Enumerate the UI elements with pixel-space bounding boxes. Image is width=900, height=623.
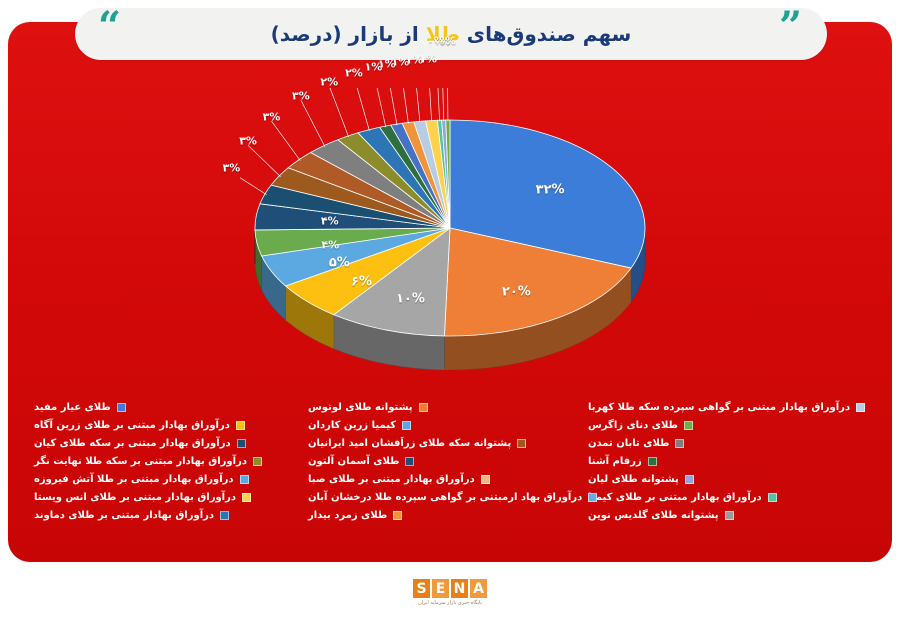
- legend-swatch-icon: [237, 439, 246, 448]
- legend-swatch-icon: [220, 511, 229, 520]
- legend-swatch-icon: [240, 475, 249, 484]
- legend-item-label: درآوراق بهادار مبتنی بر طلای صبا: [308, 472, 475, 487]
- legend-item-label: درآوراق بهادار مبتنی بر طلای انس ویستا: [34, 490, 236, 505]
- legend-column-middle: پشتوانه طلای لوتوسکیمیا زرین کاردانپشتوا…: [302, 400, 582, 545]
- pie-slice-value-label: ۲۰%: [502, 284, 531, 299]
- pie-label-leader-line: [436, 88, 440, 121]
- pie-slice-value-label: ۱۰%: [396, 292, 425, 307]
- legend-item-label: طلای زمرد بیدار: [308, 508, 387, 523]
- pie-slice-value-label: ۴%: [321, 215, 339, 228]
- legend-item-label: درآوراق بهادار مبتنی بر سکه طلای کیان: [34, 436, 231, 451]
- legend-column-left: طلای عیار مفیددرآوراق بهادار مبتنی بر طل…: [28, 400, 302, 545]
- legend-swatch-icon: [242, 493, 251, 502]
- sena-logo-subtitle: پایگاه خبری بازار سرمایه ایران: [418, 600, 482, 606]
- legend-item[interactable]: طلای زمرد بیدار: [308, 508, 576, 523]
- legend-item-label: کیمیا زرین کاردان: [308, 418, 396, 433]
- legend-swatch-icon: [588, 493, 597, 502]
- pie-label-leader-line: [428, 88, 432, 122]
- legend-item[interactable]: طلای عیار مفید: [34, 400, 296, 415]
- legend-item[interactable]: پشتوانه سکه طلای زراَفشان امید ایرانیان: [308, 436, 576, 451]
- legend-item[interactable]: پشتوانه طلای گلدیس نوین: [588, 508, 866, 523]
- pie-slice-value-label: ۲%: [320, 75, 338, 88]
- legend-item[interactable]: درآوراق بهادار مبتنی بر طلای کیمیا: [588, 490, 866, 505]
- pie-slice-value-label: ۱%: [419, 52, 437, 65]
- legend-swatch-icon: [405, 457, 414, 466]
- legend-item[interactable]: زرفام آشنا: [588, 454, 866, 469]
- pie-top-faces: [255, 120, 645, 336]
- legend-swatch-icon: [725, 511, 734, 520]
- pie-label-leader-line: [329, 88, 348, 137]
- legend-item[interactable]: طلای تابان تمدن: [588, 436, 866, 451]
- quote-close-icon: ”: [779, 13, 802, 41]
- pie-label-leader-line: [240, 172, 267, 195]
- legend-item-label: طلای دنای زاگرس: [588, 418, 678, 433]
- pie-slice-value-label: ۳%: [239, 135, 257, 148]
- pie-slice-value-label: ۴%: [321, 239, 339, 252]
- legend-item[interactable]: درآوراق بهادار مبتنی بر طلای دماوند: [34, 508, 296, 523]
- sena-logo-letter: N: [451, 579, 468, 598]
- pie-slice-value-label: ۵%: [329, 255, 350, 270]
- pie-label-leader-line: [248, 145, 281, 176]
- legend-item[interactable]: پشتوانه طلای لوتوس: [308, 400, 576, 415]
- legend-column-right: درآوراق بهادار مبتنی بر گواهی سپرده سکه …: [582, 400, 872, 545]
- pie-chart: ۳۲%۲۰%۱۰%۶%۵%۴%۴%۳%۳%۳%۳%۲%۲%۱%۱%۱%۱%۱%۰…: [240, 88, 660, 388]
- pie-slice-value-label: ۳%: [292, 90, 310, 103]
- pie-label-leader-line: [414, 88, 420, 122]
- pie-label-leader-line: [301, 100, 325, 146]
- legend-swatch-icon: [685, 475, 694, 484]
- legend-swatch-icon: [768, 493, 777, 502]
- pie-label-leader-line: [354, 88, 369, 131]
- legend-swatch-icon: [517, 439, 526, 448]
- legend-item[interactable]: درآوراق بهادار مبتنی بر گواهی سپرده سکه …: [588, 400, 866, 415]
- legend-item-label: پشتوانه طلای گلدیس نوین: [588, 508, 719, 523]
- pie-slice-value-label: ۳%: [263, 111, 281, 124]
- legend-swatch-icon: [253, 457, 262, 466]
- pie-slice-value-label: ۰%: [438, 34, 456, 47]
- legend-item-label: درآوراق بهادار مبتنی بر سکه طلا نهایت نگ…: [34, 454, 247, 469]
- pie-label-leader-line: [373, 88, 385, 127]
- legend-item-label: درآوراق بهاد ارمبتنی بر گواهی سپرده طلا …: [308, 490, 582, 505]
- legend-item[interactable]: درآوراق بهادار مبتنی بر سکه طلای کیان: [34, 436, 296, 451]
- pie-slice-value-label: ۲%: [345, 66, 363, 79]
- legend-swatch-icon: [481, 475, 490, 484]
- legend-item[interactable]: درآوراق بهادار مبتنی بر سکه طلا نهایت نگ…: [34, 454, 296, 469]
- legend-item[interactable]: درآوراق بهاد ارمبتنی بر گواهی سپرده طلا …: [308, 490, 576, 505]
- legend-item[interactable]: درآوراق بهادار مبتنی بر طلا آتش فیروزه: [34, 472, 296, 487]
- sena-logo-letter: S: [413, 579, 430, 598]
- legend-item-label: پشتوانه سکه طلای زراَفشان امید ایرانیان: [308, 436, 511, 451]
- sena-logo-letter: E: [432, 579, 449, 598]
- legend-item[interactable]: درآوراق بهادار مبتنی بر طلای صبا: [308, 472, 576, 487]
- legend-item-label: درآوراق بهادار مبتنی بر طلای کیمیا: [588, 490, 762, 505]
- legend-item-label: درآوراق بهادار مبتنی بر گواهی سپرده سکه …: [588, 400, 850, 415]
- legend-item[interactable]: کیمیا زرین کاردان: [308, 418, 576, 433]
- legend-item-label: طلای آسمان آلتون: [308, 454, 399, 469]
- legend-item-label: پشتوانه طلای لیان: [588, 472, 679, 487]
- pie-label-leader-line: [442, 88, 444, 121]
- title-prefix: سهم صندوق‌های: [460, 22, 632, 46]
- legend-item[interactable]: درآوراق بهادار مبتنی بر طلای انس ویستا: [34, 490, 296, 505]
- sena-logo-letter: A: [470, 579, 487, 598]
- quote-open-icon: “: [98, 13, 121, 41]
- sena-logo-letters: SENA: [413, 579, 487, 598]
- legend-item[interactable]: پشتوانه طلای لیان: [588, 472, 866, 487]
- legend-swatch-icon: [117, 403, 126, 412]
- legend-item-label: زرفام آشنا: [588, 454, 642, 469]
- pie-slice-value-label: ۳۲%: [536, 183, 565, 198]
- legend-item-label: طلای عیار مفید: [34, 400, 111, 415]
- legend-swatch-icon: [684, 421, 693, 430]
- pie-label-leader-line: [447, 88, 448, 121]
- legend-item-label: پشتوانه طلای لوتوس: [308, 400, 413, 415]
- sena-logo: SENA پایگاه خبری بازار سرمایه ایران: [399, 573, 501, 611]
- legend-swatch-icon: [856, 403, 865, 412]
- legend-item[interactable]: طلای آسمان آلتون: [308, 454, 576, 469]
- pie-label-leader-line: [272, 121, 301, 160]
- legend-item-label: درآوراق بهادار مبتنی بر طلای زرین آگاه: [34, 418, 230, 433]
- legend-item-label: درآوراق بهادار مبتنی بر طلای دماوند: [34, 508, 214, 523]
- pie-label-leader-line: [400, 88, 408, 124]
- legend-swatch-icon: [393, 511, 402, 520]
- pie-label-leader-line: [387, 88, 397, 125]
- legend-swatch-icon: [402, 421, 411, 430]
- legend-item-label: طلای تابان تمدن: [588, 436, 669, 451]
- title-suffix: از بازار (درصد): [271, 22, 426, 46]
- chart-legend: درآوراق بهادار مبتنی بر گواهی سپرده سکه …: [8, 400, 892, 545]
- pie-chart-svg: [240, 88, 660, 388]
- pie-slice-value-label: ۶%: [351, 274, 372, 289]
- pie-slice-value-label: ۳%: [223, 162, 241, 175]
- legend-item-label: درآوراق بهادار مبتنی بر طلا آتش فیروزه: [34, 472, 234, 487]
- footer: SENA پایگاه خبری بازار سرمایه ایران: [0, 561, 900, 623]
- legend-item[interactable]: طلای دنای زاگرس: [588, 418, 866, 433]
- legend-item[interactable]: درآوراق بهادار مبتنی بر طلای زرین آگاه: [34, 418, 296, 433]
- legend-swatch-icon: [419, 403, 428, 412]
- chart-area: ۳۲%۲۰%۱۰%۶%۵%۴%۴%۳%۳%۳%۳%۲%۲%۱%۱%۱%۱%۱%۰…: [8, 60, 892, 400]
- legend-swatch-icon: [648, 457, 657, 466]
- infographic-root: سهم صندوق‌های طلا از بازار (درصد) “ ” ۳۲…: [0, 0, 900, 623]
- legend-swatch-icon: [236, 421, 245, 430]
- legend-swatch-icon: [675, 439, 684, 448]
